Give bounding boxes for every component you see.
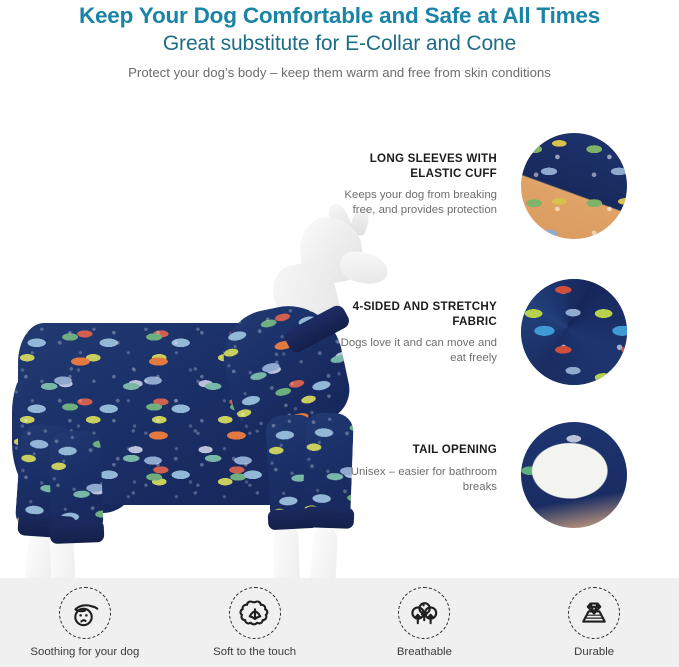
benefit-breathable: Breathable: [340, 578, 510, 667]
page-title-line-2: Great substitute for E-Collar and Cone: [0, 30, 679, 57]
feature-callout-stretchy-fabric: 4-SIDED AND STRETCHY FABRIC Dogs love it…: [337, 300, 497, 366]
dog-muzzle: [337, 248, 390, 287]
feature-callout-tail-opening: TAIL OPENING Unisex – easier for bathroo…: [337, 443, 497, 495]
benefit-label: Breathable: [397, 639, 452, 659]
page-subtitle: Protect your dog’s body – keep them warm…: [0, 57, 679, 82]
detail-photo-stretchy-fabric: [521, 279, 627, 385]
detail-photo-image: [521, 133, 627, 239]
callout-body: Keeps your dog from breaking free, and p…: [337, 181, 497, 218]
detail-photo-long-sleeves: [521, 133, 627, 239]
benefit-label: Durable: [574, 639, 614, 659]
detail-photo-image: [521, 279, 627, 385]
elastic-cuff-4: [304, 506, 355, 529]
benefits-bar: Soothing for your dog Soft to the touch: [0, 578, 679, 667]
callout-title: 4-SIDED AND STRETCHY FABRIC: [337, 300, 497, 329]
clouds-with-up-arrows-icon: [398, 587, 450, 639]
cotton-flower-icon: [229, 587, 281, 639]
benefit-soothing: Soothing for your dog: [0, 578, 170, 667]
product-infographic: Keep Your Dog Comfortable and Safe at Al…: [0, 0, 679, 667]
feature-callout-long-sleeves: LONG SLEEVES WITH ELASTIC CUFF Keeps you…: [337, 152, 497, 218]
benefit-label: Soothing for your dog: [30, 639, 139, 659]
product-photo: [0, 95, 360, 577]
elastic-cuff-2: [50, 520, 105, 544]
benefit-soft: Soft to the touch: [170, 578, 340, 667]
callout-body: Unisex – easier for bathroom breaks: [337, 458, 497, 495]
dog-face-petting-icon: [59, 587, 111, 639]
benefit-durable: Durable: [509, 578, 679, 667]
callout-title: TAIL OPENING: [337, 443, 497, 458]
benefit-label: Soft to the touch: [213, 639, 296, 659]
detail-photo-tail-opening: [521, 422, 627, 528]
header: Keep Your Dog Comfortable and Safe at Al…: [0, 0, 679, 92]
detail-photo-image: [521, 422, 627, 528]
diamond-on-fabric-icon: [568, 587, 620, 639]
page-title-line-1: Keep Your Dog Comfortable and Safe at Al…: [0, 0, 679, 30]
callout-title: LONG SLEEVES WITH ELASTIC CUFF: [337, 152, 497, 181]
callout-body: Dogs love it and can move and eat freely: [337, 329, 497, 366]
